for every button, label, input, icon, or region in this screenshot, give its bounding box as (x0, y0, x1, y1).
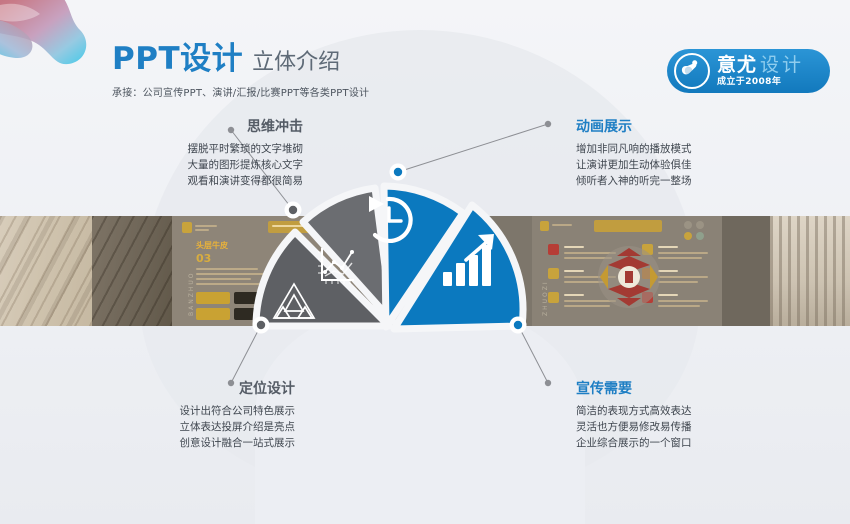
callout-line: 增加非同凡响的播放模式 (576, 141, 791, 157)
callout-block-bottom-right: 宣传需要 简洁的表现方式高效表达 灵活也方便易修改易传播 企业综合展示的一个窗口 (576, 382, 791, 451)
connector-bottom-left (231, 325, 261, 383)
callout-heading: 定位设计 (80, 382, 295, 396)
callout-block-top-left: 思维冲击 摆脱平时繁琐的文字堆砌 大量的图形提炼核心文字 观看和演讲变得都很简易 (88, 120, 303, 189)
callout-line: 简洁的表现方式高效表达 (576, 403, 791, 419)
callout-line: 倾听者入神的听完一整场 (576, 173, 791, 189)
callout-line: 摆脱平时繁琐的文字堆砌 (88, 141, 303, 157)
callout-block-bottom-left: 定位设计 设计出符合公司特色展示 立体表达投屏介绍是亮点 创意设计融合一站式展示 (80, 382, 295, 451)
callout-line: 让演讲更加生动体验俱佳 (576, 157, 791, 173)
callout-line: 大量的图形提炼核心文字 (88, 157, 303, 173)
callout-block-top-right: 动画展示 增加非同凡响的播放模式 让演讲更加生动体验俱佳 倾听者入神的听完一整场 (576, 120, 791, 189)
callout-line: 企业综合展示的一个窗口 (576, 435, 791, 451)
callout-heading: 思维冲击 (88, 120, 303, 134)
callout-heading: 动画展示 (576, 120, 791, 134)
callout-line: 观看和演讲变得都很简易 (88, 173, 303, 189)
callout-line: 立体表达投屏介绍是亮点 (80, 419, 295, 435)
connector-top-right (398, 124, 548, 172)
endpoint-dot-top-right (545, 121, 551, 127)
callout-heading: 宣传需要 (576, 382, 791, 396)
connector-bottom-right (518, 325, 548, 383)
callout-line: 设计出符合公司特色展示 (80, 403, 295, 419)
slide-canvas: 头层牛皮 03 BANZHUO (0, 0, 850, 524)
callout-line: 创意设计融合一站式展示 (80, 435, 295, 451)
endpoint-dot-bottom-right (545, 380, 551, 386)
callout-line: 灵活也方便易修改易传播 (576, 419, 791, 435)
